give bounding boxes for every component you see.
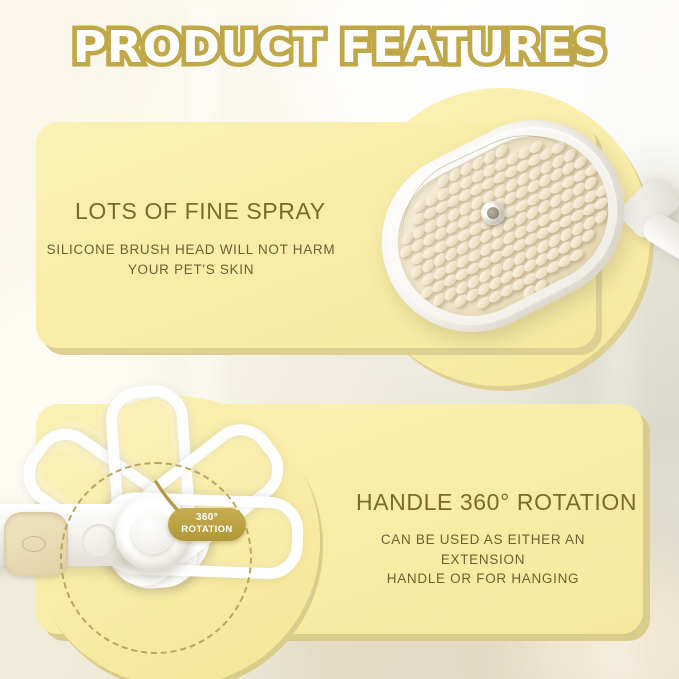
tank-cap-icon	[22, 536, 46, 552]
rotation-badge-label: ROTATION	[168, 524, 246, 535]
page-title-text: PRODUCT FEATURES	[72, 22, 606, 73]
feature-2-heading: HANDLE 360° ROTATION	[356, 489, 637, 516]
feature-2-subtitle-line-2: HANDLE OR FOR HANGING	[338, 569, 628, 589]
feature-1-subtitle-line-2: YOUR PET'S SKIN	[46, 260, 336, 280]
silicone-brush-head-image	[348, 78, 648, 378]
rotation-badge-degrees: 360°	[168, 508, 246, 524]
feature-1-heading: LOTS OF FINE SPRAY	[75, 198, 326, 225]
feature-2-subtitle: CAN BE USED AS EITHER AN EXTENSION HANDL…	[338, 530, 628, 589]
infographic-canvas: PRODUCT FEATURES LOTS OF FINE SPRAY SILI…	[0, 0, 679, 679]
rotation-badge: 360° ROTATION	[168, 508, 246, 541]
feature-2-subtitle-line-1: CAN BE USED AS EITHER AN EXTENSION	[338, 530, 628, 569]
page-title: PRODUCT FEATURES	[0, 22, 679, 73]
feature-1-subtitle-line-1: SILICONE BRUSH HEAD WILL NOT HARM	[46, 240, 336, 260]
feature-1-subtitle: SILICONE BRUSH HEAD WILL NOT HARM YOUR P…	[46, 240, 336, 279]
